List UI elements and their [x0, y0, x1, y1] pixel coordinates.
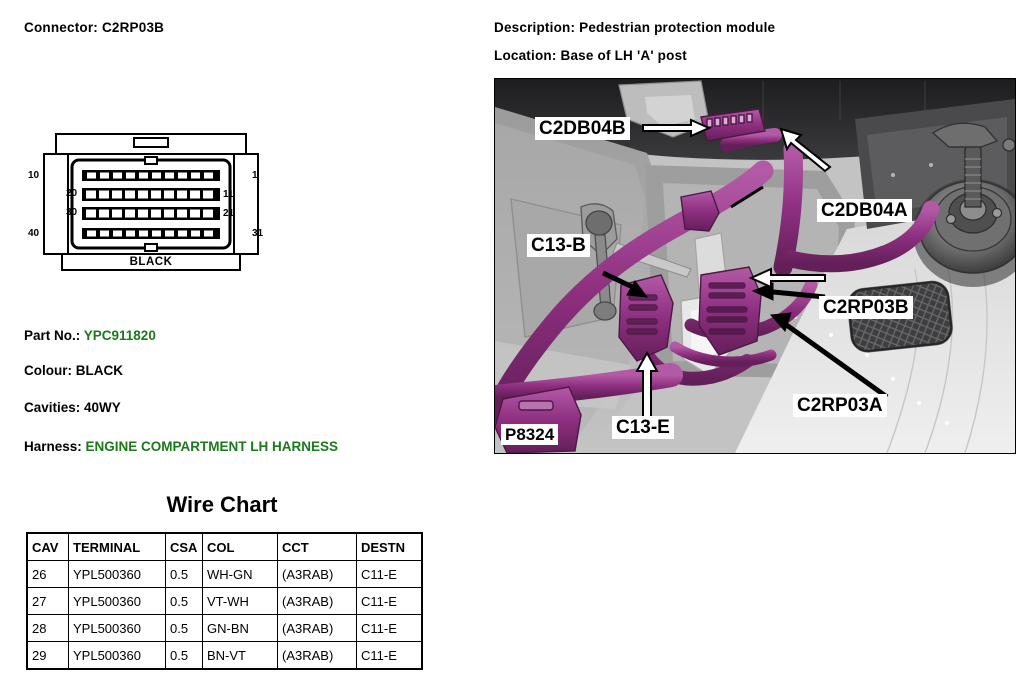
cell-destn: C11-E	[357, 561, 423, 588]
cell-destn: C11-E	[357, 588, 423, 615]
cell-col: BN-VT	[203, 642, 278, 670]
figure-id: P8324	[501, 424, 558, 445]
cell-cct: (A3RAB)	[278, 561, 357, 588]
colour-row: Colour: BLACK	[24, 363, 123, 378]
location-title: Location: Base of LH 'A' post	[494, 48, 687, 63]
pin-number-31: 31	[252, 228, 263, 239]
cell-terminal: YPL500360	[69, 588, 166, 615]
harness-label: Harness:	[24, 439, 86, 454]
connector-colour-caption: BLACK	[40, 256, 262, 268]
cell-csa: 0.5	[166, 588, 203, 615]
cell-destn: C11-E	[357, 642, 423, 670]
column-header-destn: DESTN	[357, 533, 423, 561]
cell-csa: 0.5	[166, 561, 203, 588]
callout-c13-b: C13-B	[527, 234, 590, 257]
harness-value: ENGINE COMPARTMENT LH HARNESS	[86, 439, 339, 454]
cell-cct: (A3RAB)	[278, 588, 357, 615]
pin-number-40: 40	[28, 228, 39, 239]
pin-number-20: 20	[66, 188, 77, 199]
connector-diagram: 10 1 20 11 30 21 40 31 BLACK	[40, 132, 262, 277]
description-title: Description: Pedestrian protection modul…	[494, 20, 775, 35]
cell-cav: 29	[27, 642, 69, 670]
cell-destn: C11-E	[357, 615, 423, 642]
table-row: 27 YPL500360 0.5 VT-WH (A3RAB) C11-E	[27, 588, 422, 615]
cell-cct: (A3RAB)	[278, 615, 357, 642]
location-photo: C2DB04B C2DB04A C13-B C2RP03B C13-E C2RP…	[494, 78, 1016, 454]
pin-number-11: 11	[223, 189, 234, 200]
column-header-col: COL	[203, 533, 278, 561]
callout-c2rp03b: C2RP03B	[819, 296, 913, 319]
column-header-cct: CCT	[278, 533, 357, 561]
column-header-csa: CSA	[166, 533, 203, 561]
pin-number-10: 10	[28, 170, 39, 181]
cell-csa: 0.5	[166, 615, 203, 642]
table-row: 26 YPL500360 0.5 WH-GN (A3RAB) C11-E	[27, 561, 422, 588]
cell-cct: (A3RAB)	[278, 642, 357, 670]
cell-cav: 28	[27, 615, 69, 642]
cell-terminal: YPL500360	[69, 642, 166, 670]
column-header-terminal: TERMINAL	[69, 533, 166, 561]
callout-c2rp03a: C2RP03A	[793, 394, 887, 417]
harness-row: Harness: ENGINE COMPARTMENT LH HARNESS	[24, 439, 338, 454]
part-no-row: Part No.: YPC911820	[24, 328, 156, 343]
cell-col: GN-BN	[203, 615, 278, 642]
cavities-row: Cavities: 40WY	[24, 400, 121, 415]
callout-c13-e: C13-E	[612, 416, 674, 439]
table-header-row: CAV TERMINAL CSA COL CCT DESTN	[27, 533, 422, 561]
cell-terminal: YPL500360	[69, 615, 166, 642]
cell-col: VT-WH	[203, 588, 278, 615]
part-no-label: Part No.:	[24, 328, 84, 343]
pin-number-1: 1	[252, 170, 258, 181]
cell-cav: 27	[27, 588, 69, 615]
cell-cav: 26	[27, 561, 69, 588]
callout-c2db04b: C2DB04B	[535, 117, 630, 140]
part-no-value: YPC911820	[84, 328, 156, 343]
pin-number-30: 30	[66, 207, 77, 218]
callout-c2db04a: C2DB04A	[817, 199, 912, 222]
cell-col: WH-GN	[203, 561, 278, 588]
column-header-cav: CAV	[27, 533, 69, 561]
wire-chart-title: Wire Chart	[26, 492, 418, 518]
pin-number-21: 21	[223, 208, 234, 219]
cell-csa: 0.5	[166, 642, 203, 670]
connector-title: Connector: C2RP03B	[24, 20, 164, 35]
table-row: 29 YPL500360 0.5 BN-VT (A3RAB) C11-E	[27, 642, 422, 670]
table-row: 28 YPL500360 0.5 GN-BN (A3RAB) C11-E	[27, 615, 422, 642]
cell-terminal: YPL500360	[69, 561, 166, 588]
wire-chart-table: CAV TERMINAL CSA COL CCT DESTN 26 YPL500…	[26, 532, 423, 670]
